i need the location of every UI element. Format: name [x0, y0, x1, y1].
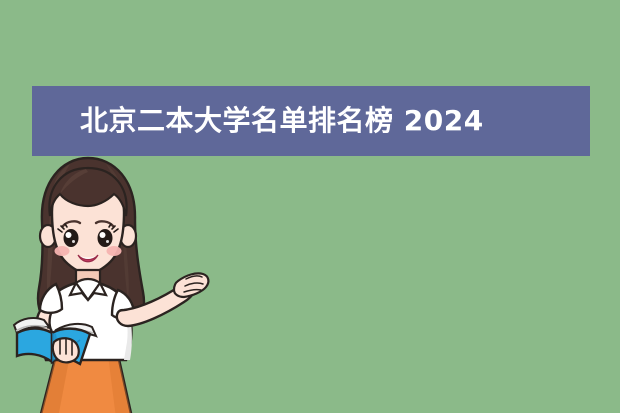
left-hand [53, 338, 79, 362]
poster-canvas: 北京二本大学名单排名榜 2024 [0, 0, 620, 413]
skirt-shape [40, 355, 132, 413]
page-title: 北京二本大学名单排名榜 2024 [80, 107, 484, 135]
cartoon-student-girl-illustration [0, 150, 250, 413]
title-banner: 北京二本大学名单排名榜 2024 [32, 86, 590, 156]
